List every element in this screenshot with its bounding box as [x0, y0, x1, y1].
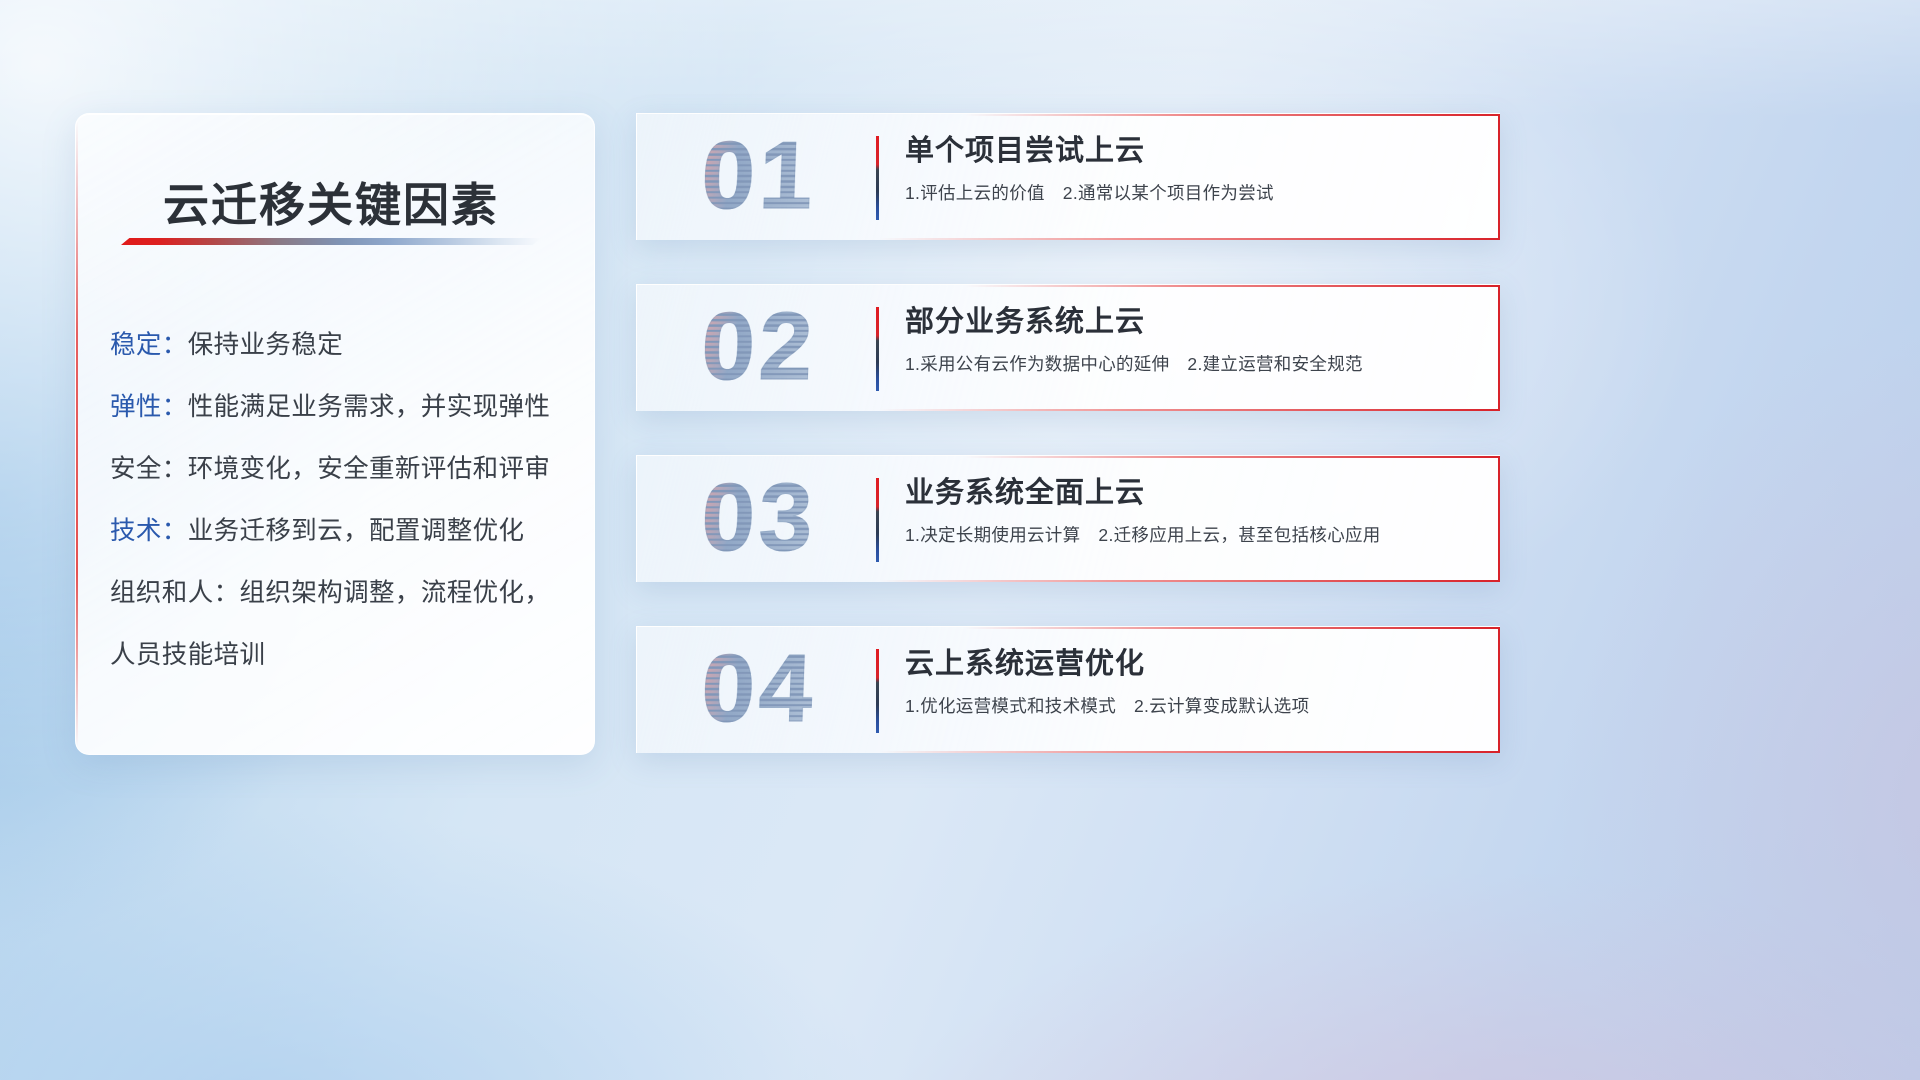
card-divider-bar [876, 649, 879, 733]
stage-number-text: 04 [700, 634, 819, 744]
list-item-key: 组织和人： [110, 579, 240, 607]
card-description-part1: 1.评估上云的价值 [905, 183, 1045, 203]
card-description: 1.采用公有云作为数据中心的延伸2.建立运营和安全规范 [905, 351, 1474, 377]
stage-number-text: 01 [700, 121, 819, 231]
card-text-block: 业务系统全面上云 1.决定长期使用云计算2.迁移应用上云，甚至包括核心应用 [905, 473, 1474, 548]
card-description-part2: 2.云计算变成默认选项 [1134, 696, 1309, 716]
key-factors-list: 稳定：保持业务稳定 弹性：性能满足业务需求，并实现弹性 安全：环境变化，安全重新… [110, 314, 580, 686]
card-description-part1: 1.决定长期使用云计算 [905, 525, 1080, 545]
list-item-key: 稳定： [110, 331, 188, 359]
card-text-block: 单个项目尝试上云 1.评估上云的价值2.通常以某个项目作为尝试 [905, 131, 1474, 206]
migration-stage-cards: 01 单个项目尝试上云 1.评估上云的价值2.通常以某个项目作为尝试 02 部分… [636, 113, 1500, 797]
card-description: 1.评估上云的价值2.通常以某个项目作为尝试 [905, 180, 1474, 206]
stage-card-01[interactable]: 01 单个项目尝试上云 1.评估上云的价值2.通常以某个项目作为尝试 [636, 113, 1500, 240]
list-item: 稳定：保持业务稳定 [110, 314, 580, 376]
card-description: 1.优化运营模式和技术模式2.云计算变成默认选项 [905, 693, 1474, 719]
card-text-block: 部分业务系统上云 1.采用公有云作为数据中心的延伸2.建立运营和安全规范 [905, 302, 1474, 377]
list-item: 技术：业务迁移到云，配置调整优化 [110, 500, 580, 562]
list-item: 组织和人：组织架构调整，流程优化， [110, 562, 580, 624]
card-description: 1.决定长期使用云计算2.迁移应用上云，甚至包括核心应用 [905, 522, 1474, 548]
card-accent-line [1498, 114, 1500, 240]
list-item-key: 安全： [110, 455, 188, 483]
list-item: 弹性：性能满足业务需求，并实现弹性 [110, 376, 580, 438]
card-accent-line [1498, 456, 1500, 582]
card-accent-line [1498, 627, 1500, 753]
card-description-part2: 2.通常以某个项目作为尝试 [1063, 183, 1274, 203]
list-item-key: 弹性： [110, 393, 188, 421]
stage-number-04: 04 [659, 626, 859, 753]
page-title: 云迁移关键因素 [163, 169, 499, 235]
card-title: 云上系统运营优化 [905, 644, 1474, 684]
stage-number-text: 02 [700, 292, 819, 402]
card-description-part1: 1.优化运营模式和技术模式 [905, 696, 1116, 716]
list-item-key: 技术： [110, 517, 188, 545]
list-item-value: 人员技能培训 [110, 641, 265, 669]
stage-card-03[interactable]: 03 业务系统全面上云 1.决定长期使用云计算2.迁移应用上云，甚至包括核心应用 [636, 455, 1500, 582]
stage-card-02[interactable]: 02 部分业务系统上云 1.采用公有云作为数据中心的延伸2.建立运营和安全规范 [636, 284, 1500, 411]
stage-card-04[interactable]: 04 云上系统运营优化 1.优化运营模式和技术模式2.云计算变成默认选项 [636, 626, 1500, 753]
card-title: 部分业务系统上云 [905, 302, 1474, 342]
stage-number-text: 03 [700, 463, 819, 573]
list-item-value: 性能满足业务需求，并实现弹性 [188, 393, 551, 421]
list-item-value: 环境变化，安全重新评估和评审 [188, 455, 551, 483]
stage-number-01: 01 [659, 113, 859, 240]
card-title: 单个项目尝试上云 [905, 131, 1474, 171]
card-divider-bar [876, 136, 879, 220]
card-description-part2: 2.建立运营和安全规范 [1187, 354, 1362, 374]
list-item: 人员技能培训 [110, 624, 580, 686]
card-title: 业务系统全面上云 [905, 473, 1474, 513]
card-divider-bar [876, 478, 879, 562]
list-item: 安全：环境变化，安全重新评估和评审 [110, 438, 580, 500]
list-item-value: 保持业务稳定 [188, 331, 343, 359]
card-divider-bar [876, 307, 879, 391]
list-item-value: 组织架构调整，流程优化， [240, 579, 551, 607]
stage-number-02: 02 [659, 284, 859, 411]
title-underline-rule [121, 238, 541, 245]
card-text-block: 云上系统运营优化 1.优化运营模式和技术模式2.云计算变成默认选项 [905, 644, 1474, 719]
key-factors-panel: 云迁移关键因素 稳定：保持业务稳定 弹性：性能满足业务需求，并实现弹性 安全：环… [75, 113, 595, 755]
card-description-part1: 1.采用公有云作为数据中心的延伸 [905, 354, 1169, 374]
card-accent-line [1498, 285, 1500, 411]
list-item-value: 业务迁移到云，配置调整优化 [188, 517, 525, 545]
stage-number-03: 03 [659, 455, 859, 582]
card-description-part2: 2.迁移应用上云，甚至包括核心应用 [1098, 525, 1380, 545]
